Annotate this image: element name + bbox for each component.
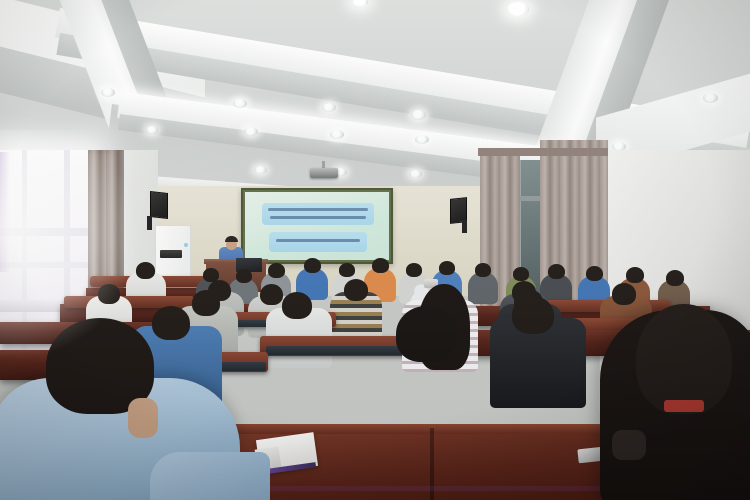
attendee-head	[586, 266, 603, 281]
downlight-icon	[101, 88, 115, 97]
attendee-head	[339, 263, 355, 277]
attendee-head	[475, 263, 491, 277]
slide-subheading-box	[269, 232, 367, 252]
attendee-head	[372, 258, 389, 273]
attendee-head	[548, 264, 565, 279]
wall-speaker-left	[150, 191, 168, 219]
window-rail	[0, 262, 96, 268]
ceiling-projector	[310, 168, 338, 178]
slide-text-line	[276, 239, 360, 242]
downlight-icon	[415, 135, 429, 144]
attendee-ear	[128, 398, 158, 438]
air-conditioner-panel	[160, 250, 182, 258]
attendee-head	[236, 269, 252, 283]
attendee-head	[396, 306, 456, 362]
attendee-head	[136, 262, 155, 279]
attendee-head	[666, 270, 684, 286]
attendee-head	[152, 306, 190, 340]
conference-room-photo	[0, 0, 750, 500]
downlight-icon	[409, 170, 422, 178]
attendee-shoulder	[612, 430, 646, 460]
attendee-head	[406, 263, 422, 277]
attendee-head	[268, 263, 285, 278]
downlight-icon	[411, 110, 426, 120]
curtain-rail	[478, 148, 608, 156]
attendee-head	[512, 296, 554, 334]
attendee-head	[626, 267, 644, 283]
attendee-head	[282, 292, 312, 319]
air-conditioner-led	[184, 243, 188, 247]
downlight-icon	[254, 166, 267, 174]
window-mullion	[22, 150, 27, 350]
slide-heading-box	[262, 203, 374, 225]
attendee-head	[344, 279, 368, 301]
window-flare	[0, 152, 10, 272]
attendee-head	[439, 261, 455, 275]
attendee-head	[192, 290, 220, 316]
downlight-icon	[507, 2, 529, 16]
speaker-bracket	[147, 216, 152, 230]
presenter-hair	[225, 236, 238, 242]
attendee-long-hair	[636, 304, 732, 414]
window-rail	[0, 228, 96, 236]
downlight-icon	[330, 130, 344, 139]
downlight-icon	[244, 127, 258, 136]
attendee-head	[513, 267, 529, 281]
attendee-head	[98, 284, 120, 304]
attendee-arm	[150, 452, 270, 500]
downlight-icon	[703, 93, 718, 103]
downlight-icon	[146, 126, 158, 134]
downlight-icon	[322, 103, 336, 112]
attendee-head	[612, 283, 636, 305]
slide-text-line	[268, 208, 368, 211]
speaker-bracket	[462, 220, 467, 233]
downlight-icon	[233, 99, 247, 108]
red-collar	[664, 400, 704, 412]
attendee-head	[304, 258, 321, 273]
attendee-head	[260, 284, 283, 305]
slide-text-line	[270, 216, 366, 219]
